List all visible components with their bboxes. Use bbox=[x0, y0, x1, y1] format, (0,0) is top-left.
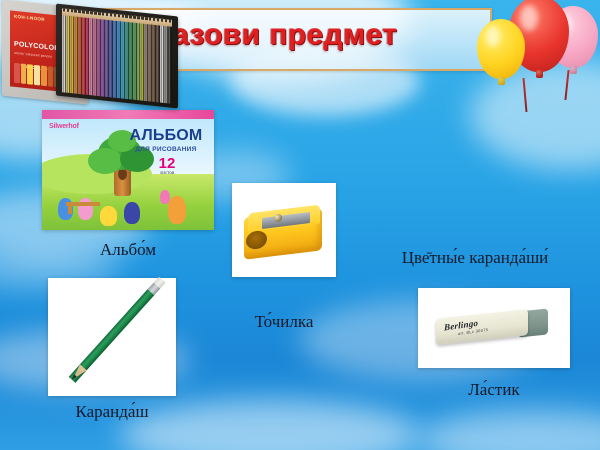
album-character-navy bbox=[124, 202, 140, 224]
album-image: Silwerhof АЛЬБОМ ДЛЯ РИСОВАНИЯ 12 листов bbox=[42, 110, 214, 230]
album-title-block: АЛЬБОМ ДЛЯ РИСОВАНИЯ bbox=[124, 128, 208, 153]
pencil-point bbox=[102, 12, 105, 15]
pencil-point bbox=[110, 13, 113, 16]
album-character-pink2 bbox=[160, 190, 170, 204]
pencil-point bbox=[125, 15, 128, 18]
pencil-point bbox=[169, 19, 172, 22]
pencil-point bbox=[161, 19, 164, 22]
pencil-point bbox=[71, 9, 74, 12]
album-word-sub: ДЛЯ РИСОВАНИЯ bbox=[124, 146, 208, 153]
colored-pencil bbox=[168, 19, 172, 103]
pencil-point bbox=[157, 18, 160, 21]
album-cover-top-band bbox=[42, 110, 214, 119]
album-sheet-number: 12 bbox=[146, 156, 188, 171]
pencil-point bbox=[82, 10, 85, 13]
pencil-tip bbox=[82, 10, 86, 17]
pencil-point bbox=[90, 11, 93, 14]
pencil-point bbox=[137, 16, 140, 19]
eraser-image: Berlingo art. BLc 30075 bbox=[418, 288, 570, 368]
album-character-yellow bbox=[100, 206, 117, 226]
pencil-point bbox=[86, 11, 89, 14]
pencil-point bbox=[106, 13, 109, 16]
caption-pencil: Каранда́ш bbox=[48, 402, 176, 422]
pencil-point bbox=[67, 9, 70, 12]
pencil-tin-base bbox=[56, 4, 178, 104]
pencil-point bbox=[133, 16, 136, 19]
album-tree-foliage bbox=[88, 148, 122, 174]
colored-pencil-row bbox=[62, 8, 172, 104]
pencil-image bbox=[48, 278, 176, 396]
pencil-point bbox=[141, 17, 144, 20]
pencil-point bbox=[114, 14, 117, 17]
caption-album: Альбо́м bbox=[42, 240, 214, 260]
colored-pencils-image: KOH-I-NOOR POLYCOLOR artists' coloured p… bbox=[0, 0, 180, 104]
colored-pencil bbox=[82, 10, 86, 94]
sharpener-image bbox=[232, 183, 336, 277]
yellow-balloon bbox=[477, 19, 525, 79]
pencil-point bbox=[63, 8, 66, 11]
pencil-tin-line-small: artists' coloured pencils bbox=[14, 51, 52, 59]
pencil-point bbox=[74, 10, 77, 13]
album-bench-leg bbox=[68, 205, 72, 214]
pencil-point bbox=[78, 10, 81, 13]
pencil-point bbox=[153, 18, 156, 21]
caption-sharpener: То́чилка bbox=[222, 312, 346, 332]
album-sheet-label: листов bbox=[146, 171, 188, 176]
album-word-main: АЛЬБОМ bbox=[124, 128, 208, 144]
balloon-highlight bbox=[520, 5, 538, 31]
pencil-graphic bbox=[56, 286, 166, 386]
album-sheet-count: 12 листов bbox=[146, 156, 188, 176]
pencil-point bbox=[149, 17, 152, 20]
page-title: Назови предмет bbox=[150, 18, 480, 52]
pencil-tip bbox=[133, 16, 137, 23]
pencil-point bbox=[165, 19, 168, 22]
album-character-orange bbox=[168, 196, 186, 224]
pencil-tip bbox=[168, 19, 172, 26]
caption-eraser: Ла́стик bbox=[418, 380, 570, 400]
pencil-point bbox=[129, 15, 132, 18]
balloon-highlight bbox=[486, 26, 500, 46]
colored-pencil bbox=[133, 16, 137, 100]
slide-canvas: Назови предмет Silwerhof АЛЬБОМ bbox=[0, 0, 600, 450]
pencil-tin-brand: KOH-I-NOOR bbox=[14, 14, 45, 22]
pencil-point bbox=[145, 17, 148, 20]
album-brand-logo: Silwerhof bbox=[49, 123, 79, 130]
pencil-point bbox=[122, 14, 125, 17]
pencil-point bbox=[118, 14, 121, 17]
pencil-point bbox=[98, 12, 101, 15]
pencil-point bbox=[94, 12, 97, 15]
caption-colored-pencils: Цве̄тны́е каранда́ши́ bbox=[355, 248, 595, 268]
